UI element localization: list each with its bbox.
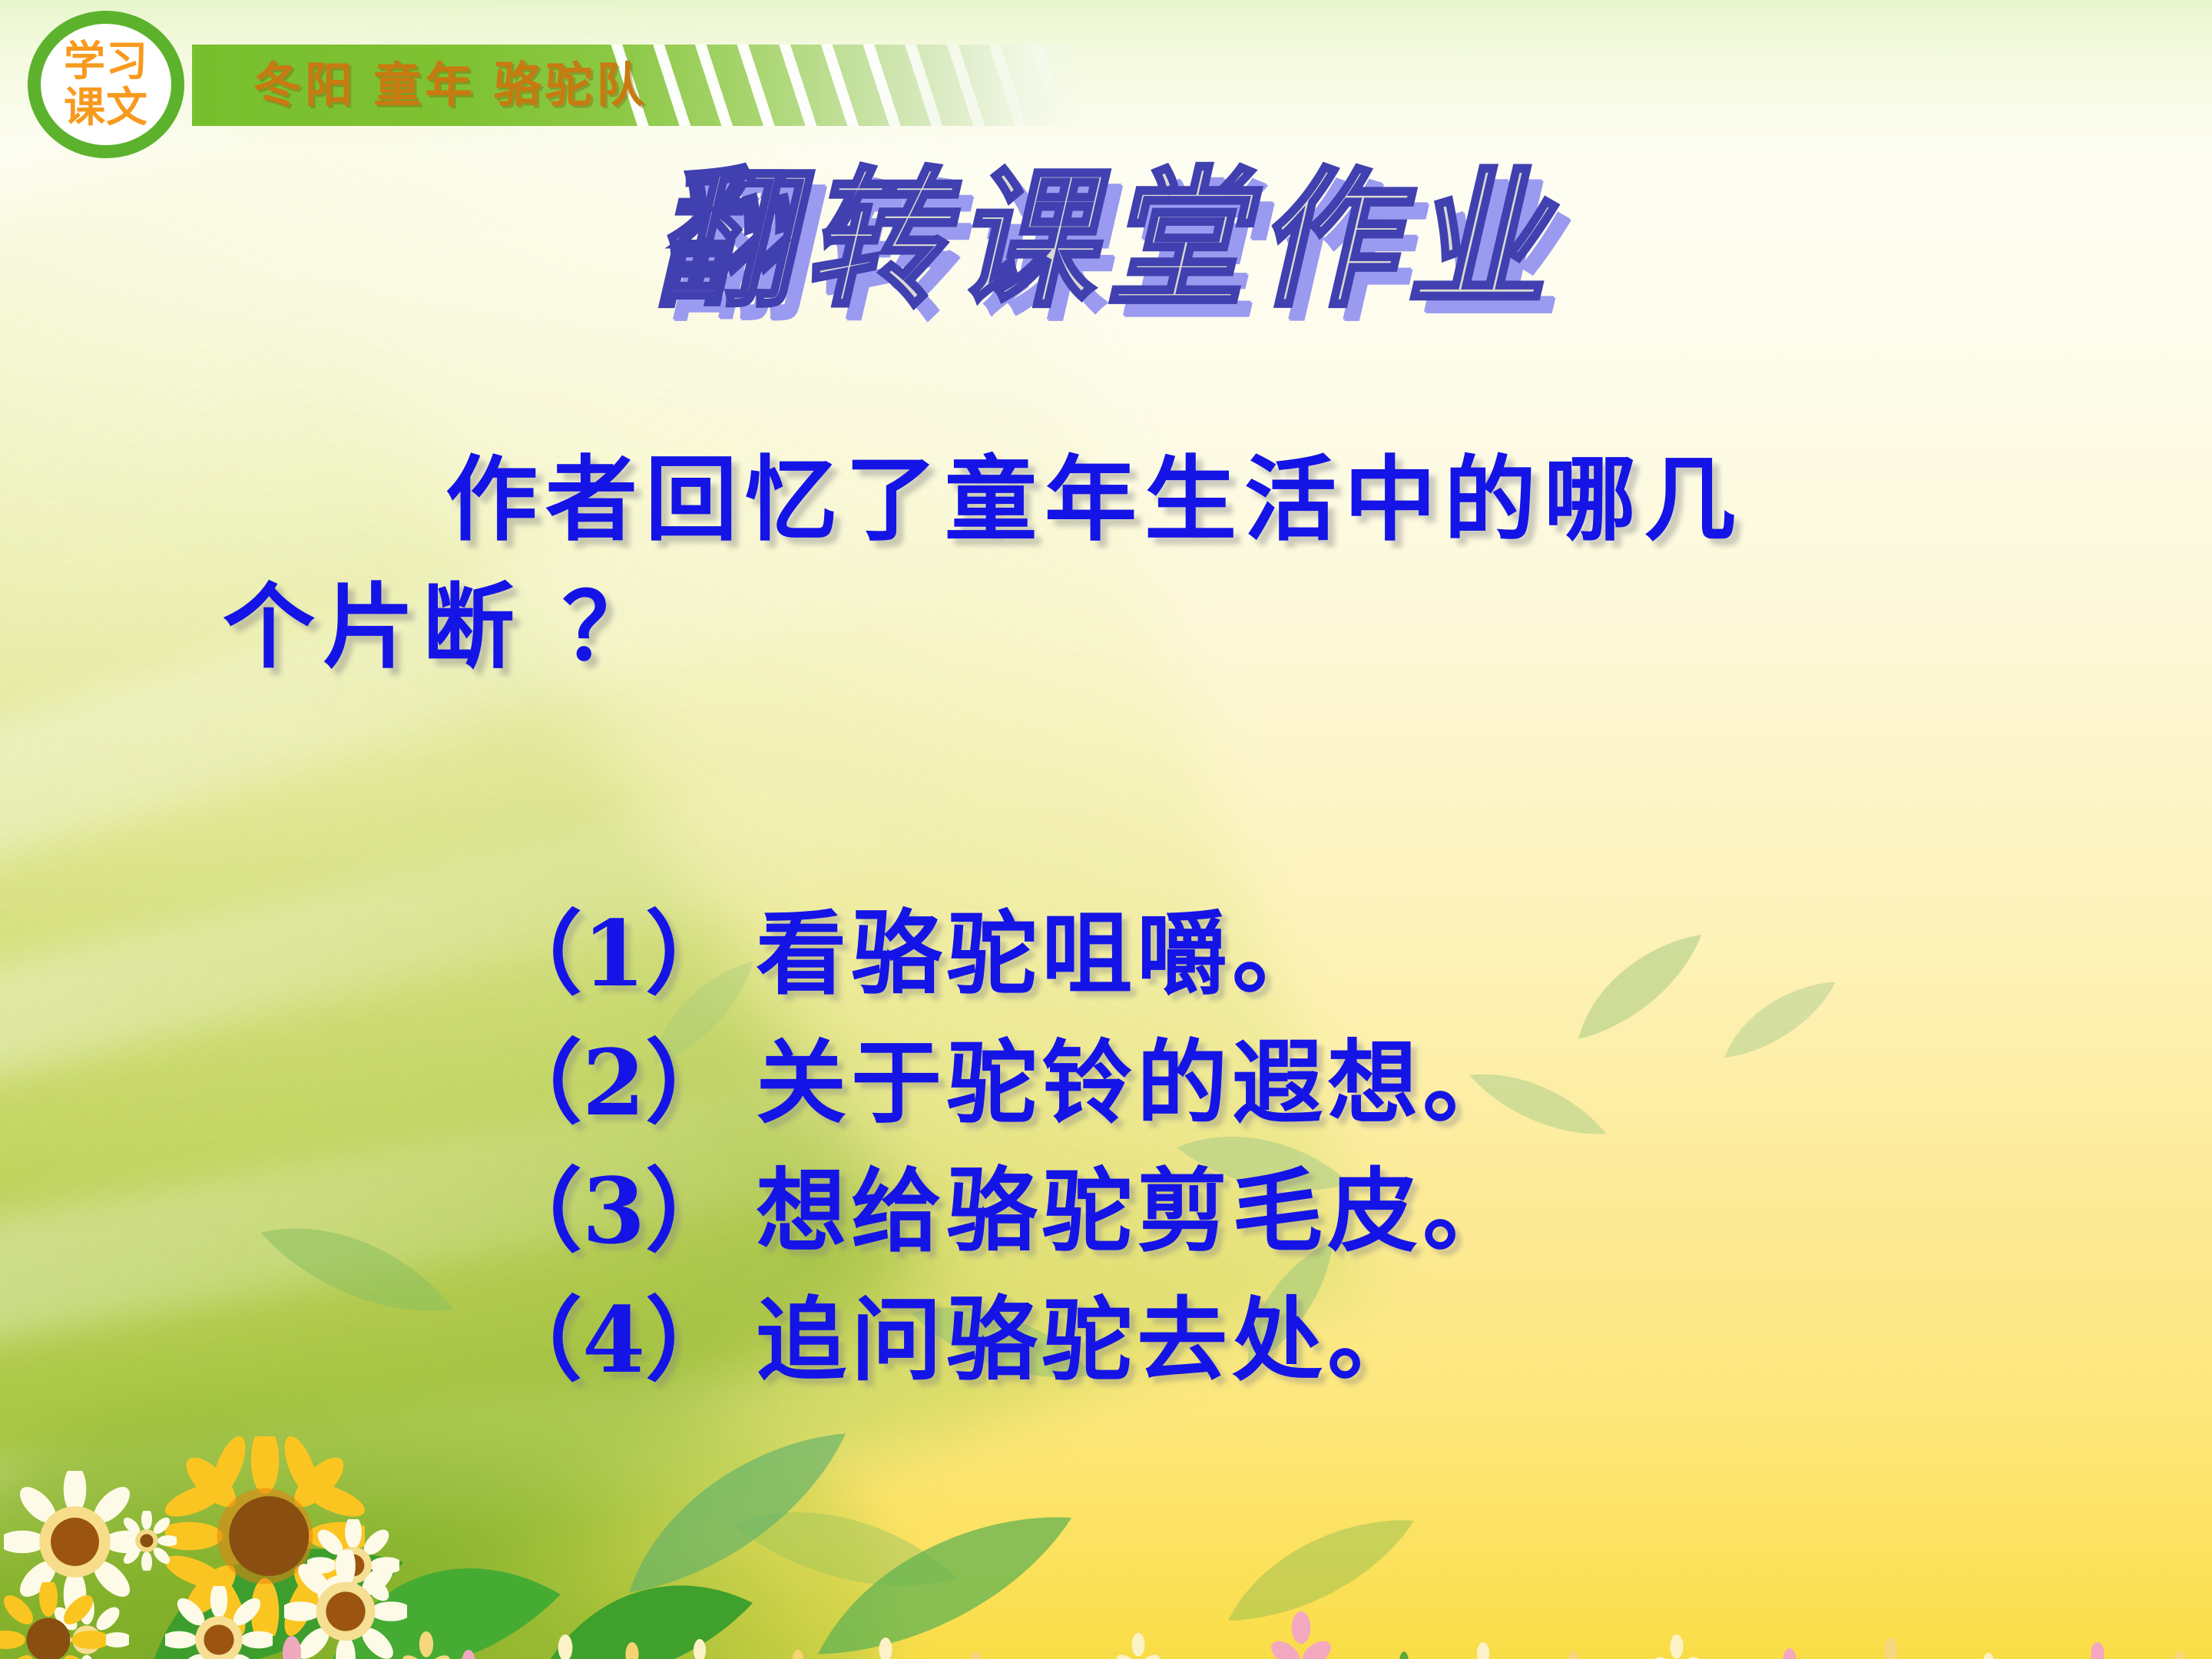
list-item-number: （1） bbox=[492, 900, 736, 1007]
list-item: （4）追问骆驼去处。 bbox=[492, 1276, 1518, 1405]
answer-list: （1）看骆驼咀嚼。 （2）关于驼铃的遐想。 （3）想给骆驼剪毛皮。 （4）追问骆… bbox=[492, 889, 1518, 1404]
lesson-title: 冬阳 童年 骆驼队 bbox=[253, 49, 647, 123]
small-flower-icon bbox=[1651, 1634, 1702, 1659]
small-flower-icon bbox=[2158, 1651, 2201, 1659]
small-flower-icon bbox=[1966, 1653, 2011, 1659]
list-item: （1）看骆驼咀嚼。 bbox=[492, 889, 1518, 1018]
small-flower-icon bbox=[1551, 1651, 1596, 1659]
small-flower-icon bbox=[1459, 1642, 1507, 1659]
list-item-label: 追问骆驼去处。 bbox=[756, 1286, 1422, 1393]
slide-canvas: 冬阳 童年 骆驼队 学习 课文 翻转课堂作业 作者回忆了童年生活中的哪几 个片断… bbox=[0, 0, 2212, 1659]
study-text-badge: 学习 课文 bbox=[28, 11, 184, 158]
page-title: 翻转课堂作业 bbox=[0, 167, 2212, 313]
list-item-label: 看骆驼咀嚼。 bbox=[756, 900, 1327, 1007]
list-item-label: 关于驼铃的遐想。 bbox=[756, 1029, 1518, 1136]
header-stripes-decoration bbox=[607, 45, 1083, 126]
list-item: （3）想给骆驼剪毛皮。 bbox=[492, 1147, 1518, 1276]
question-block: 作者回忆了童年生活中的哪几 个片断 ？ bbox=[223, 436, 1989, 690]
small-flower-icon bbox=[1267, 1611, 1335, 1659]
leaf-icon bbox=[1552, 922, 1727, 1051]
small-flower-icon bbox=[2074, 1642, 2121, 1659]
list-item-number: （3） bbox=[492, 1157, 736, 1264]
small-flower-icon bbox=[1866, 1637, 1916, 1659]
badge-line-1: 学习 bbox=[64, 41, 148, 82]
list-item-number: （2） bbox=[492, 1029, 736, 1136]
small-flower-icon bbox=[952, 1651, 998, 1659]
list-item-label: 想给骆驼剪毛皮。 bbox=[756, 1157, 1518, 1264]
leaf-icon bbox=[1707, 972, 1853, 1068]
grass-mound-decoration bbox=[0, 1375, 883, 1659]
leaf-icon bbox=[250, 1174, 465, 1369]
question-line-1: 作者回忆了童年生活中的哪几 bbox=[223, 436, 1989, 564]
list-item: （2）关于驼铃的遐想。 bbox=[492, 1018, 1518, 1147]
badge-line-2: 课文 bbox=[64, 87, 148, 128]
small-flower-icon bbox=[1382, 1650, 1426, 1659]
small-flower-icon bbox=[1114, 1633, 1163, 1659]
list-item-number: （4） bbox=[492, 1286, 736, 1393]
question-line-2: 个片断 ？ bbox=[223, 564, 1989, 691]
leaf-icon bbox=[1192, 1504, 1450, 1637]
page-title-wordart: 翻转课堂作业 bbox=[654, 161, 1558, 318]
small-flower-icon bbox=[1767, 1648, 1813, 1659]
